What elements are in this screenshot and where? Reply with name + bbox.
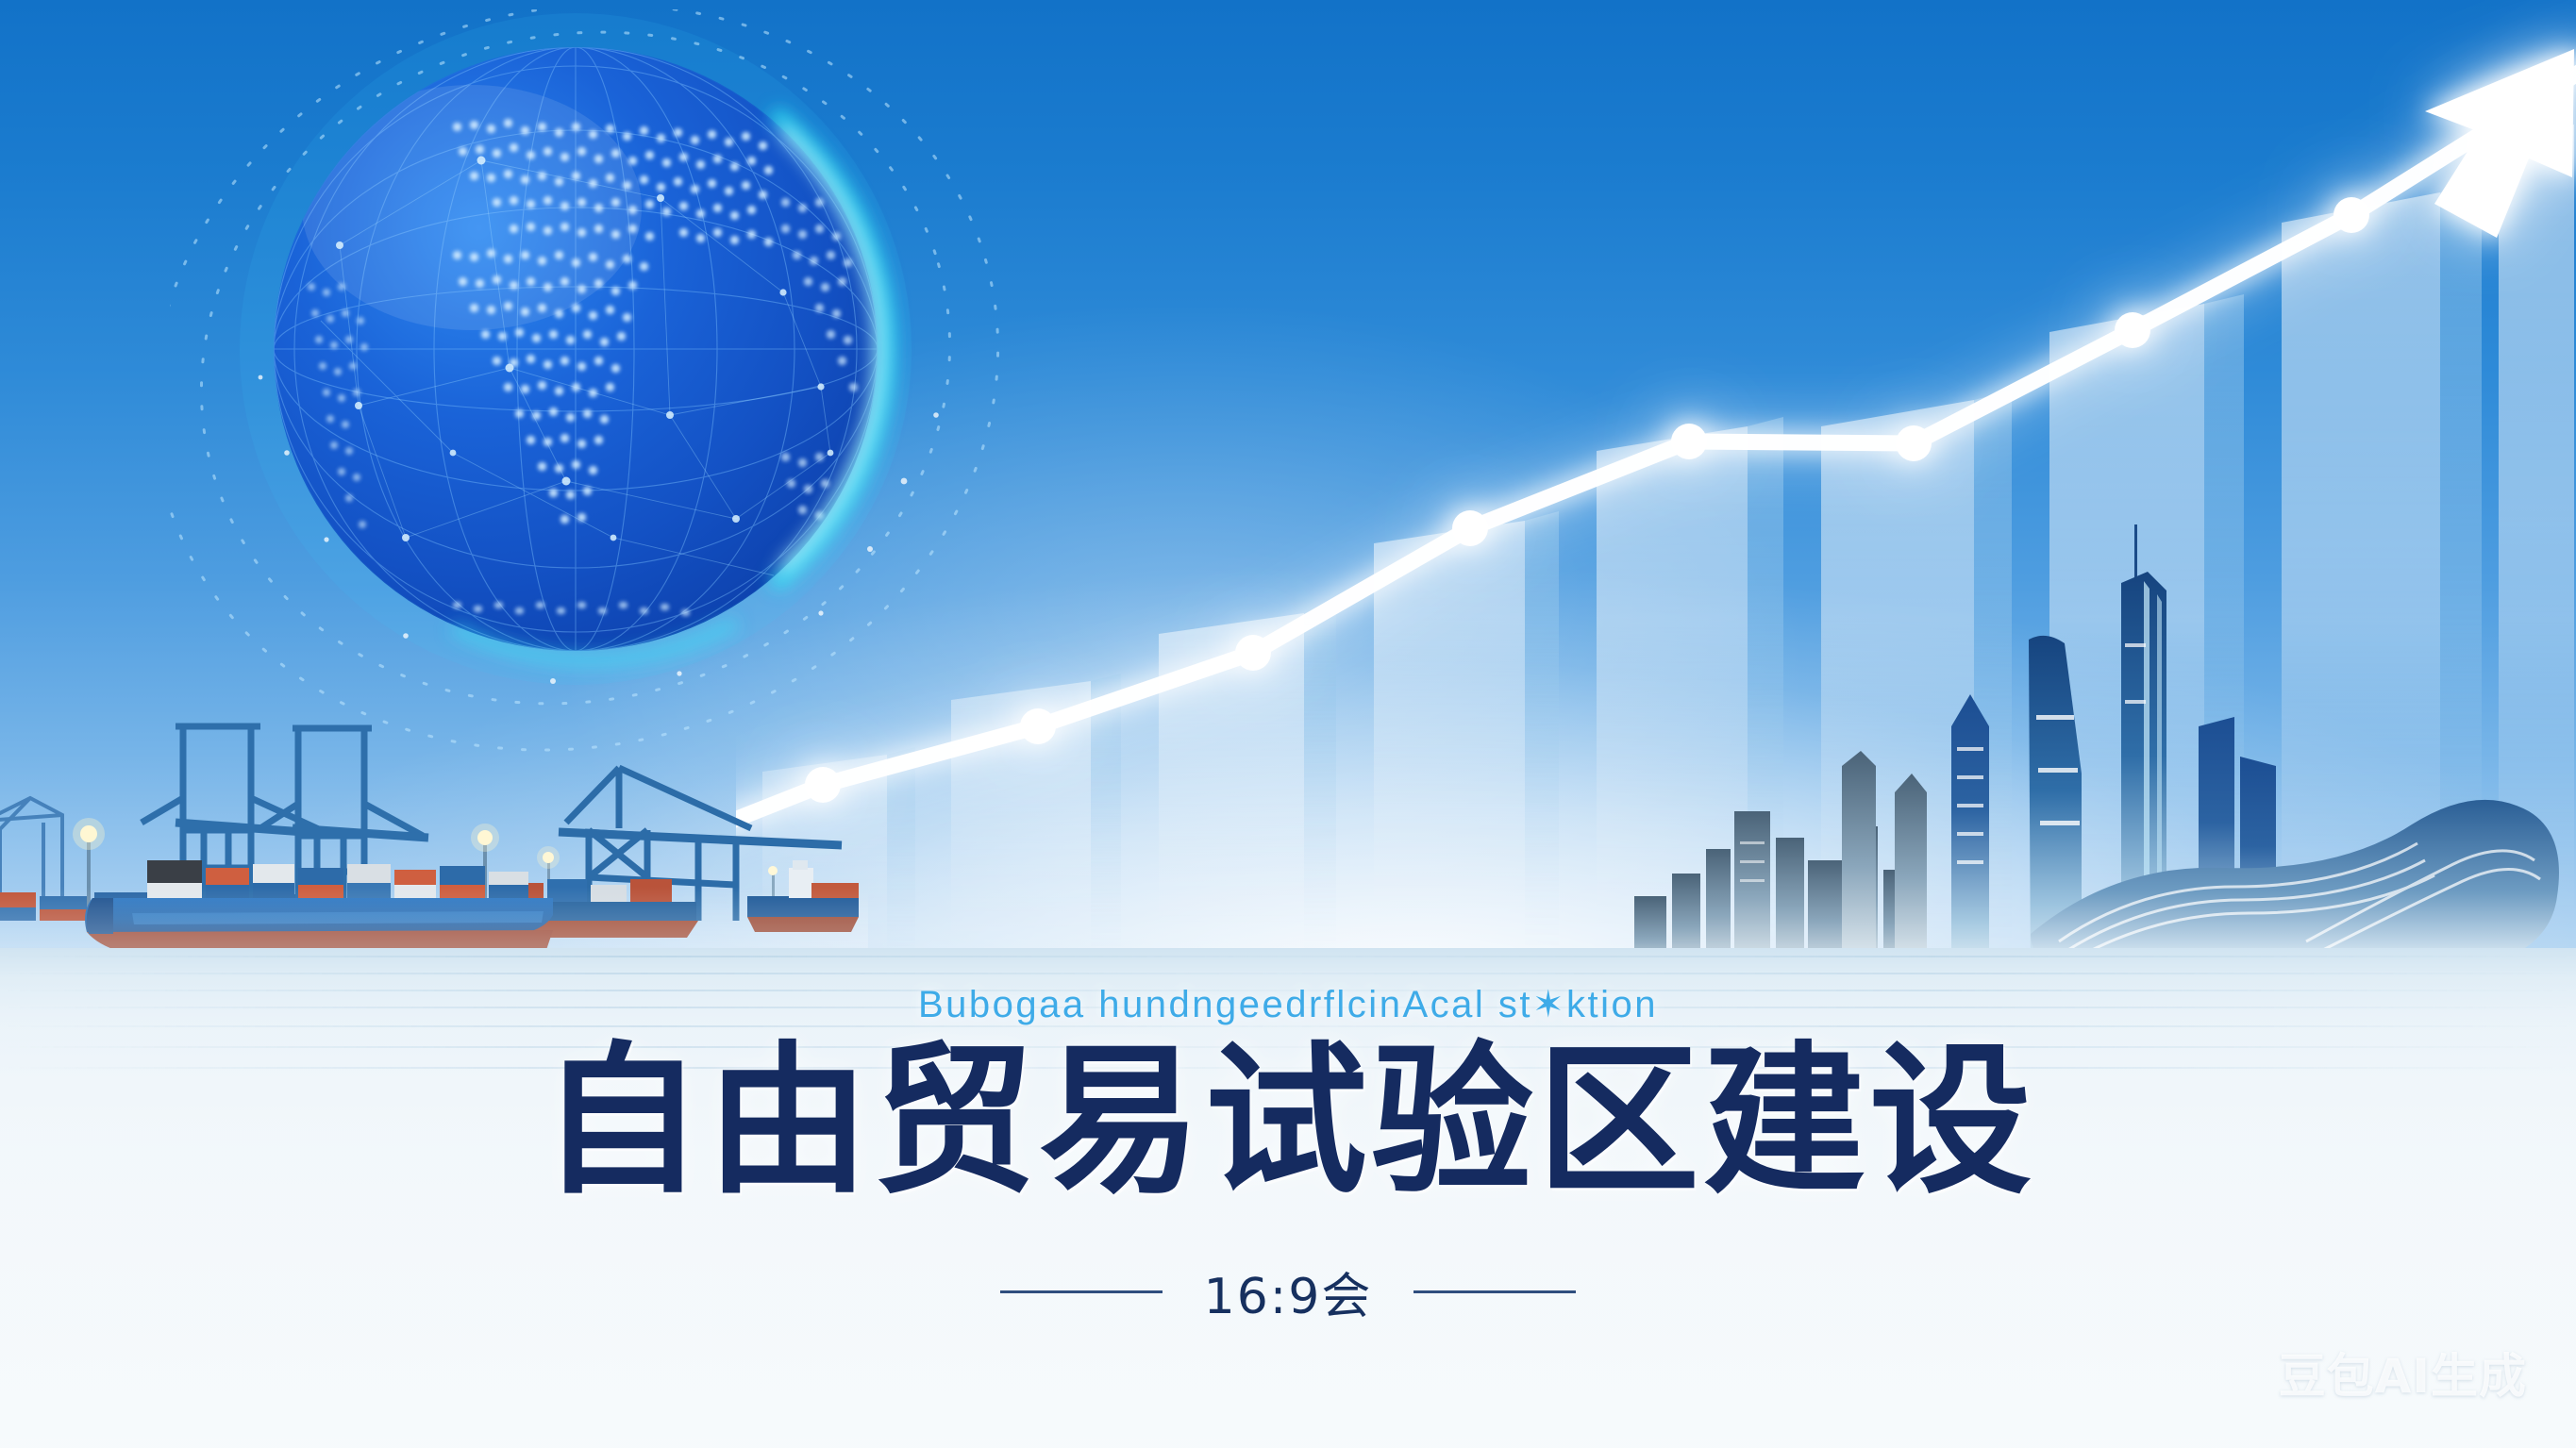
divider-rule-left bbox=[1000, 1290, 1163, 1293]
subtitle-text: Bubogaa hundngeedrflcinAcal st✶ktion bbox=[0, 986, 2576, 1024]
page-title: 自由贸易试验区建设 bbox=[0, 1037, 2576, 1207]
gantry-crane bbox=[0, 798, 62, 902]
ratio-caption: 16:9会 bbox=[1204, 1257, 1373, 1327]
globe-graphic bbox=[170, 9, 1047, 764]
trend-node bbox=[2333, 197, 2369, 233]
trend-node bbox=[1896, 425, 1932, 461]
city-skyline bbox=[1623, 491, 2576, 981]
bar-4 bbox=[1374, 511, 1559, 1000]
poster-canvas: Bubogaa hundngeedrflcinAcal st✶ktion 自由贸… bbox=[0, 0, 2576, 1448]
caption-row: 16:9会 bbox=[0, 1257, 2576, 1327]
ai-watermark: 豆包AI生成 bbox=[2279, 1339, 2527, 1406]
mid-towers bbox=[1842, 694, 1989, 981]
divider-rule-right bbox=[1413, 1290, 1576, 1293]
trend-node bbox=[1452, 510, 1488, 546]
trend-node bbox=[1671, 424, 1707, 459]
trend-node bbox=[2115, 312, 2150, 348]
trend-node bbox=[1235, 635, 1271, 671]
title-block: Bubogaa hundngeedrflcinAcal st✶ktion 自由贸… bbox=[0, 986, 2576, 1327]
